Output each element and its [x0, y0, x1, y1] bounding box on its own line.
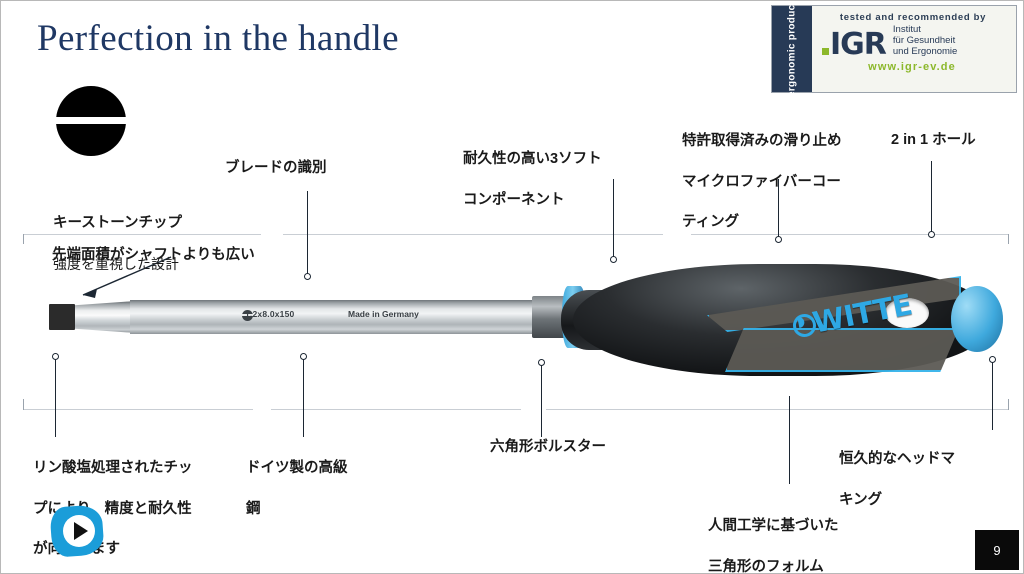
play-triangle-icon [74, 522, 88, 540]
callout-soft-components-line1: 耐久性の高い3ソフト [463, 150, 602, 169]
blade-shaft [130, 300, 548, 334]
leader-dot-soft-components [610, 256, 617, 263]
guide-bracket-left-bottom [23, 399, 24, 410]
callout-microfiber-line1: 特許取得済みの滑り止め [682, 132, 842, 151]
guide-bracket-right-top [1008, 234, 1009, 244]
callout-ergonomic-form-line2: 三角形のフォルム [708, 558, 839, 574]
callout-blade-id: ブレードの識別 [225, 159, 327, 178]
leader-line-blade-id [307, 191, 308, 276]
igr-certification-logo: ergonomic product tested and recommended… [771, 5, 1017, 93]
callout-keystone-tip-line1: キーストーンチップ [53, 214, 182, 233]
blade-tip-phosphate-coating [49, 304, 75, 330]
callout-tip-area: 先端面積がシャフトよりも広い [52, 246, 255, 265]
igr-acronym: IGR [830, 31, 886, 59]
callout-microfiber-line2: マイクロファイバーコー [682, 173, 842, 192]
leader-dot-blade-id [304, 273, 311, 280]
guide-bracket-left-top [23, 234, 24, 244]
shaft-size-marking: 1.2x8.0x150 [245, 309, 294, 319]
leader-line-soft-components [613, 179, 614, 259]
callout-ergonomic-form-line1: 人間工学に基づいた [708, 517, 839, 536]
igr-tested-text: tested and recommended by [822, 12, 1010, 23]
page-number: 9 [993, 543, 1000, 558]
slotted-head-icon [56, 86, 126, 156]
igr-ergonomic-product-band: ergonomic product [772, 6, 812, 92]
callout-hex-bolster: 六角形ボルスター [490, 438, 606, 457]
play-video-button[interactable] [51, 506, 103, 556]
leader-line-ergonomic-form [789, 396, 790, 484]
igr-side-label: ergonomic product [787, 1, 798, 97]
page-title: Perfection in the handle [37, 17, 399, 60]
callout-keystone-tip: キーストーンチップ 強度を重視した設計 [53, 193, 182, 295]
callout-microfiber: 特許取得済みの滑り止め マイクロファイバーコー ティング [682, 111, 842, 254]
guide-line-bottom-left [23, 409, 253, 410]
igr-website-url: www.igr-ev.de [822, 61, 1010, 73]
guide-line-bottom-right [546, 409, 1009, 410]
leader-line-hex-bolster [541, 365, 542, 437]
callout-german-steel-line1: ドイツ製の高級 [246, 459, 348, 478]
presentation-slide: Perfection in the handle ergonomic produ… [0, 0, 1024, 574]
callout-german-steel-line2: 鋼 [246, 500, 348, 519]
shaft-origin-marking: Made in Germany [348, 309, 419, 319]
page-number-box: 9 [975, 530, 1019, 570]
screwdriver-handle: WITTE [555, 252, 1005, 390]
igr-main-panel: tested and recommended by IGR Institut f… [812, 6, 1016, 92]
callout-ergonomic-form: 人間工学に基づいた 三角形のフォルム [708, 496, 839, 574]
callout-soft-components-line2: コンポーネント [463, 191, 602, 210]
guide-bracket-right-bottom [1008, 399, 1009, 410]
callout-head-marking: 恒久的なヘッドマ キング [839, 429, 955, 531]
callout-phosphate-tip-line1: リン酸塩処理されたチッ [33, 459, 193, 478]
callout-german-steel: ドイツ製の高級 鋼 [246, 438, 348, 540]
callout-head-marking-line2: キング [839, 491, 955, 510]
callout-head-marking-line1: 恒久的なヘッドマ [839, 450, 955, 469]
guide-line-bottom-mid [271, 409, 521, 410]
igr-institute-line-3: und Ergonomie [893, 47, 957, 58]
leader-line-phosphate-tip [55, 359, 56, 437]
leader-dot-two-in-one-hole [928, 231, 935, 238]
guide-line-top-mid [283, 234, 663, 235]
leader-line-head-marking [992, 362, 993, 430]
leader-line-german-steel [303, 359, 304, 437]
leader-line-two-in-one-hole [931, 161, 932, 234]
callout-microfiber-line3: ティング [682, 213, 842, 232]
igr-green-square-icon [822, 48, 829, 55]
handle-end-cap [951, 286, 1003, 352]
callout-two-in-one-hole: 2 in 1 ホール [891, 131, 976, 150]
igr-wordmark-row: IGR Institut für Gesundheit und Ergonomi… [822, 25, 1010, 58]
callout-soft-components: 耐久性の高い3ソフト コンポーネント [463, 129, 602, 231]
igr-institute-name: Institut für Gesundheit und Ergonomie [893, 25, 957, 57]
